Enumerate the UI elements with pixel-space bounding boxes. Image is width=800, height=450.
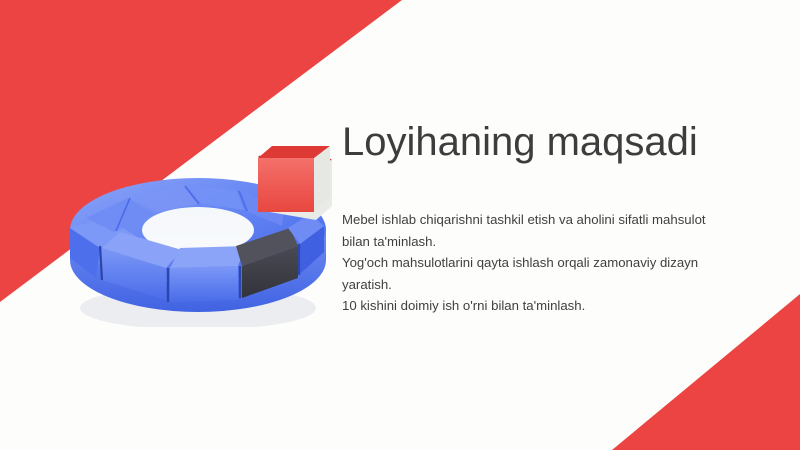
body-line-2: bilan ta'minlash. xyxy=(342,231,788,253)
3d-donut-chart-illustration xyxy=(58,132,338,327)
presentation-slide: Loyihaning maqsadi Mebel ishlab chiqaris… xyxy=(0,0,800,450)
slide-body-text: Mebel ishlab chiqarishni tashkil etish v… xyxy=(342,209,788,317)
segment-blue-3 xyxy=(170,266,238,302)
red-triangle-bottom-right xyxy=(612,294,800,450)
body-line-4: yaratish. xyxy=(342,274,788,296)
slide-content: Loyihaning maqsadi Mebel ishlab chiqaris… xyxy=(342,118,788,317)
body-line-1: Mebel ishlab chiqarishni tashkil etish v… xyxy=(342,209,788,231)
page-title: Loyihaning maqsadi xyxy=(342,118,788,166)
segment-highlight-red xyxy=(258,146,332,224)
body-line-5: 10 kishini doimiy ish o'rni bilan ta'min… xyxy=(342,295,788,317)
body-line-3: Yog'och mahsulotlarini qayta ishlash orq… xyxy=(342,252,788,274)
